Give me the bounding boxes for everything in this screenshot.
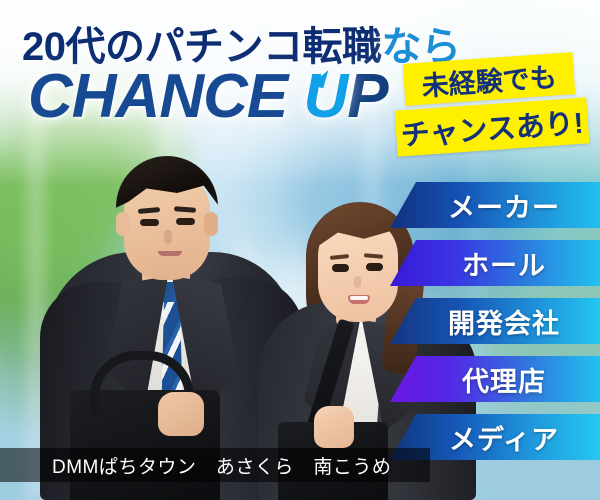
female-teeth — [350, 296, 368, 300]
headline-line-2: CHANCE UP — [28, 66, 388, 128]
female-hand — [314, 406, 354, 448]
female-eye-left — [332, 264, 349, 272]
credit-text: DMMぱちタウン あさくら 南こうめ — [0, 452, 391, 479]
female-eye-right — [366, 263, 383, 271]
category-button-agency[interactable]: 代理店 — [390, 356, 600, 402]
male-ear-left — [116, 212, 130, 236]
male-ear-right — [204, 212, 218, 236]
male-eye-right — [176, 218, 195, 225]
credit-bar: DMMぱちタウン あさくら 南こうめ — [0, 448, 430, 482]
male-eye-left — [140, 219, 159, 226]
category-button-maker[interactable]: メーカー — [390, 182, 600, 228]
male-mouth — [158, 251, 182, 256]
category-button-developer[interactable]: 開発会社 — [390, 298, 600, 344]
male-nose — [164, 230, 172, 244]
male-hand — [158, 392, 204, 436]
headline-chance-text: CHANCE — [28, 62, 303, 131]
headline-up-p: P — [347, 62, 387, 131]
recruitment-banner[interactable]: 20代のパチンコ転職なら CHANCE UP 未経験でも チャンスあり! メーカ… — [0, 0, 600, 500]
category-button-hall[interactable]: ホール — [390, 240, 600, 286]
category-button-list: メーカー ホール 開発会社 代理店 メディア — [390, 182, 600, 472]
female-nose — [354, 276, 361, 288]
